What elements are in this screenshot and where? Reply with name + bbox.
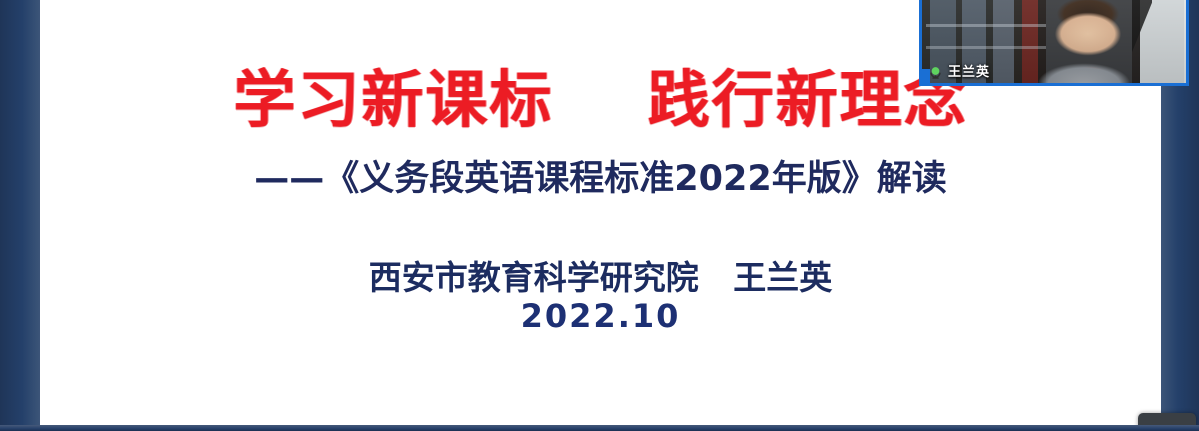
slide-date: 2022.10 — [40, 296, 1161, 334]
webcam-nametag: 王兰英 — [926, 64, 996, 81]
webcam-tile[interactable]: 王兰英 — [919, 0, 1189, 86]
microphone-icon — [928, 65, 943, 80]
slide-presenter: 西安市教育科学研究院 王兰英 — [40, 198, 1161, 296]
webcam-participant-name: 王兰英 — [948, 65, 990, 80]
slide-subtitle: ——《义务段英语课程标准2022年版》解读 — [40, 131, 1161, 198]
presentation-screen: 学习新课标 践行新理念 ——《义务段英语课程标准2022年版》解读 西安市教育科… — [0, 0, 1199, 431]
letterbox-band-bottom — [0, 425, 1199, 431]
letterbox-band-left — [0, 0, 40, 431]
